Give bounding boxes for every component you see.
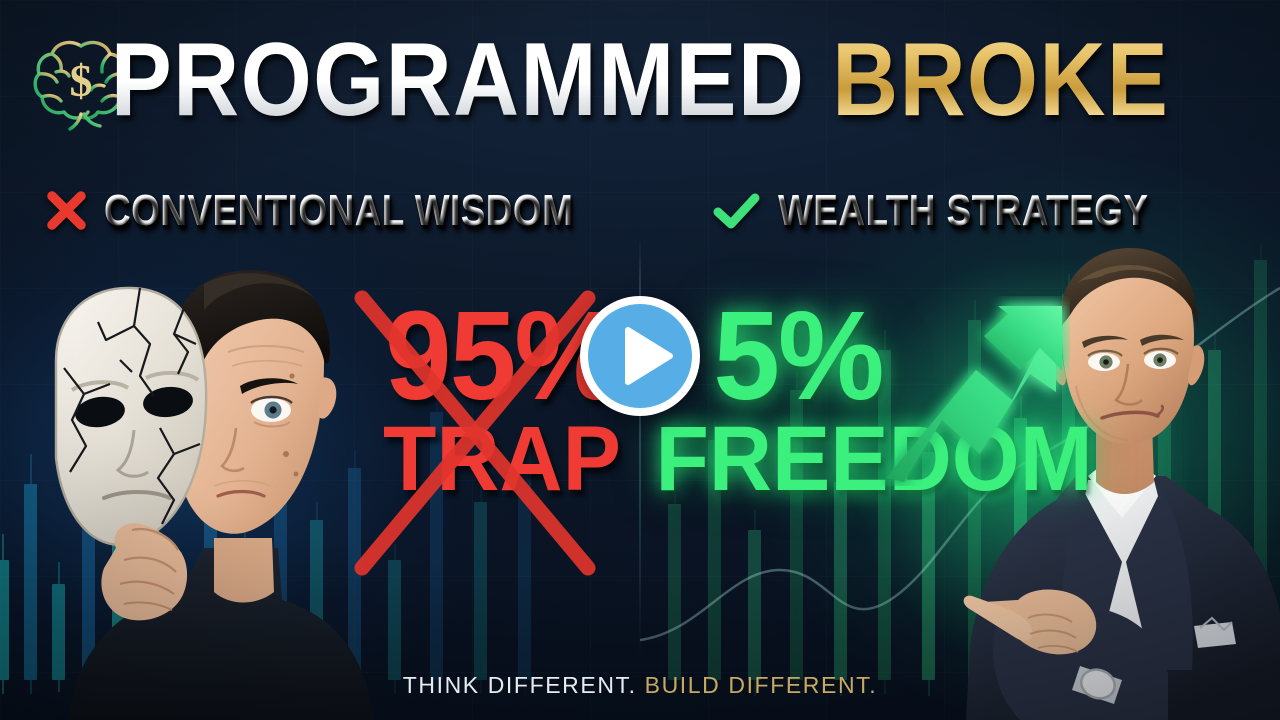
thumbnail-canvas: $ PROGRAMMED BROKE CONVENTIONAL WISDOM W… (0, 0, 1280, 720)
upward-trend-arrow-icon (880, 296, 1070, 486)
masked-man-illustration (28, 248, 380, 720)
page-title: PROGRAMMED BROKE (77, 24, 1203, 136)
column-header-wealth-strategy: WEALTH STRATEGY (712, 180, 1219, 242)
comparison-header-row: CONVENTIONAL WISDOM WEALTH STRATEGY (0, 180, 1280, 242)
check-mark-icon (712, 189, 762, 233)
title-word-broke: BROKE (832, 22, 1169, 138)
play-button[interactable] (576, 292, 704, 420)
tagline: THINK DIFFERENT. BUILD DIFFERENT. (0, 672, 1280, 699)
cracked-mask (56, 288, 206, 545)
tagline-part-think: THINK DIFFERENT. (403, 672, 637, 698)
column-label-left: CONVENTIONAL WISDOM (104, 186, 573, 236)
title-word-programmed: PROGRAMMED (111, 22, 806, 138)
stat-word-left: TRAP (360, 416, 645, 502)
column-label-right: WEALTH STRATEGY (778, 186, 1148, 236)
tagline-part-build: BUILD DIFFERENT. (645, 672, 878, 698)
column-header-conventional-wisdom: CONVENTIONAL WISDOM (44, 180, 663, 242)
x-mark-icon (44, 189, 88, 233)
